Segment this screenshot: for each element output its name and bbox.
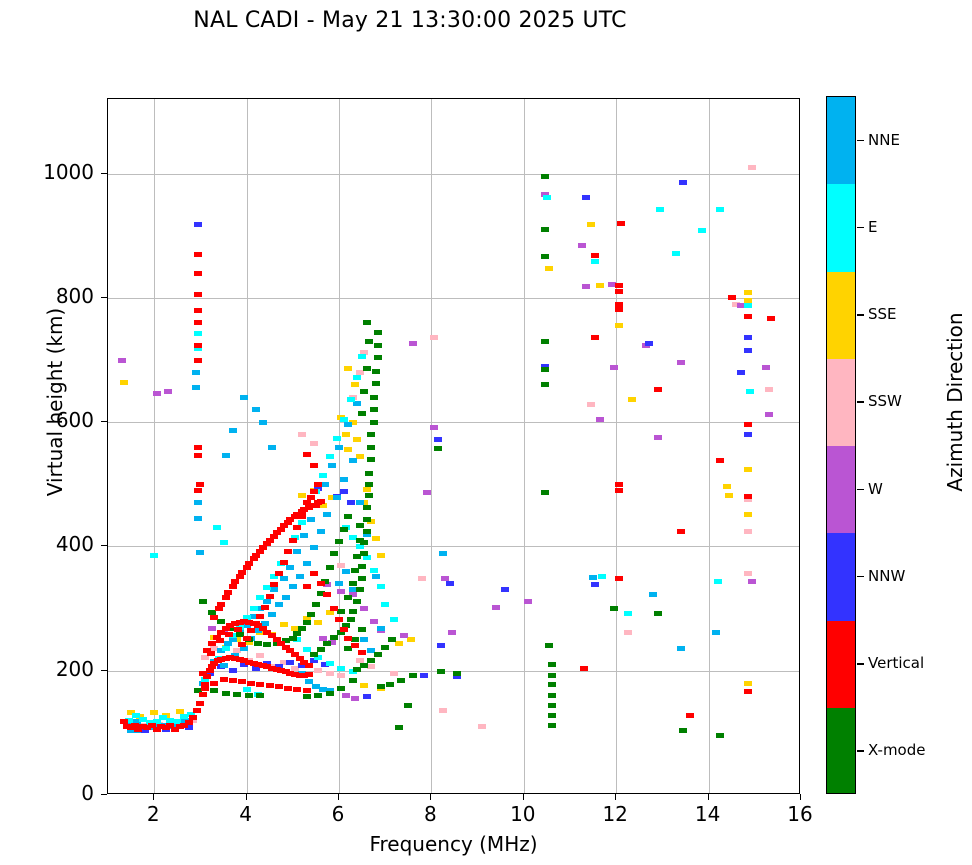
ionogram-echo-point xyxy=(349,581,357,586)
ionogram-echo-point xyxy=(335,445,343,450)
ionogram-echo-point xyxy=(744,512,752,517)
ionogram-echo-point xyxy=(615,289,623,294)
ionogram-echo-point xyxy=(323,592,331,597)
ionogram-echo-point xyxy=(716,207,724,212)
ionogram-echo-point xyxy=(210,681,218,686)
ionogram-echo-point xyxy=(330,635,338,640)
ionogram-echo-point xyxy=(543,195,551,200)
ionogram-echo-point xyxy=(194,445,202,450)
ionogram-echo-point xyxy=(194,292,202,297)
ionogram-echo-point xyxy=(150,553,158,558)
colorbar-tick xyxy=(857,401,864,402)
ionogram-echo-point xyxy=(548,703,556,708)
ionogram-echo-point xyxy=(716,733,724,738)
ionogram-echo-point xyxy=(351,643,359,648)
ionogram-echo-point xyxy=(270,587,278,592)
ionogram-echo-point xyxy=(744,494,752,499)
x-tick-label: 12 xyxy=(585,802,645,826)
ionogram-echo-point xyxy=(194,271,202,276)
ionogram-echo-point xyxy=(582,195,590,200)
y-tick xyxy=(101,545,107,546)
ionogram-echo-point xyxy=(591,253,599,258)
ionogram-echo-point xyxy=(370,420,378,425)
ionogram-echo-point xyxy=(333,495,341,500)
ionogram-echo-point xyxy=(233,692,241,697)
colorbar-tick xyxy=(857,663,864,664)
ionogram-echo-point xyxy=(289,584,297,589)
ionogram-echo-point xyxy=(263,642,271,647)
colorbar-label-w: W xyxy=(868,480,883,498)
ionogram-echo-point xyxy=(238,679,246,684)
ionogram-echo-point xyxy=(268,445,276,450)
colorbar-segment-vertical xyxy=(827,621,855,708)
colorbar-label-sse: SSE xyxy=(868,305,897,323)
ionogram-echo-point xyxy=(268,612,276,617)
ionogram-echo-point xyxy=(164,389,172,394)
colorbar xyxy=(826,96,856,794)
ionogram-echo-point xyxy=(372,381,380,386)
ionogram-echo-point xyxy=(548,682,556,687)
x-tick-label: 16 xyxy=(770,802,830,826)
ionogram-echo-point xyxy=(256,682,264,687)
ionogram-echo-point xyxy=(337,609,345,614)
ionogram-echo-point xyxy=(587,402,595,407)
ionogram-echo-point xyxy=(360,551,368,556)
ionogram-echo-point xyxy=(545,643,553,648)
ionogram-echo-point xyxy=(360,389,368,394)
ionogram-echo-point xyxy=(363,505,371,510)
ionogram-echo-point xyxy=(150,710,158,715)
ionogram-echo-point xyxy=(370,407,378,412)
ionogram-echo-point xyxy=(400,633,408,638)
x-tick xyxy=(800,794,801,800)
ionogram-echo-point xyxy=(541,339,549,344)
ionogram-echo-point xyxy=(370,619,378,624)
ionogram-echo-point xyxy=(314,482,322,487)
ionogram-echo-point xyxy=(207,651,215,656)
y-tick xyxy=(101,421,107,422)
ionogram-echo-point xyxy=(303,452,311,457)
ionogram-echo-point xyxy=(340,627,348,632)
ionogram-echo-point xyxy=(303,561,311,566)
ionogram-echo-point xyxy=(762,365,770,370)
ionogram-echo-point xyxy=(617,221,625,226)
ionogram-echo-point xyxy=(193,708,201,713)
ionogram-echo-point xyxy=(548,673,556,678)
ionogram-echo-point xyxy=(225,632,233,637)
ionogram-echo-point xyxy=(222,453,230,458)
ionogram-echo-point xyxy=(765,387,773,392)
y-axis-title: Virtual height (km) xyxy=(43,252,67,552)
ionogram-echo-point xyxy=(353,401,361,406)
ionogram-echo-point xyxy=(548,693,556,698)
colorbar-segment-w xyxy=(827,446,855,533)
ionogram-echo-point xyxy=(280,622,288,627)
ionogram-echo-point xyxy=(744,467,752,472)
ionogram-echo-point xyxy=(340,489,348,494)
ionogram-echo-point xyxy=(194,488,202,493)
ionogram-echo-point xyxy=(199,671,207,676)
ionogram-echo-point xyxy=(266,683,274,688)
ionogram-echo-point xyxy=(358,627,366,632)
ionogram-echo-point xyxy=(677,529,685,534)
ionogram-echo-point xyxy=(409,341,417,346)
ionogram-echo-point xyxy=(210,688,218,693)
ionogram-echo-point xyxy=(275,602,283,607)
ionogram-echo-point xyxy=(624,630,632,635)
ionogram-echo-point xyxy=(314,693,322,698)
ionogram-echo-point xyxy=(256,614,264,619)
ionogram-echo-point xyxy=(374,355,382,360)
ionogram-echo-point xyxy=(744,689,752,694)
colorbar-segment-sse xyxy=(827,272,855,359)
ionogram-echo-point xyxy=(234,627,242,632)
ionogram-echo-point xyxy=(363,529,371,534)
ionogram-echo-point xyxy=(765,412,773,417)
ionogram-echo-point xyxy=(679,180,687,185)
y-tick xyxy=(101,670,107,671)
y-tick-label: 0 xyxy=(10,781,94,805)
ionogram-echo-point xyxy=(434,446,442,451)
ionogram-echo-point xyxy=(377,584,385,589)
ionogram-echo-point xyxy=(326,565,334,570)
ionogram-echo-point xyxy=(744,303,752,308)
ionogram-echo-point xyxy=(610,606,618,611)
ionogram-echo-point xyxy=(716,458,724,463)
ionogram-echo-point xyxy=(243,636,251,641)
ionogram-echo-point xyxy=(628,397,636,402)
ionogram-echo-point xyxy=(349,458,357,463)
colorbar-tick xyxy=(857,489,864,490)
ionogram-echo-point xyxy=(615,488,623,493)
ionogram-echo-point xyxy=(243,687,251,692)
ionogram-echo-point xyxy=(723,484,731,489)
ionogram-echo-point xyxy=(303,500,311,505)
ionogram-echo-point xyxy=(358,650,366,655)
ionogram-echo-point xyxy=(201,686,209,691)
ionogram-echo-point xyxy=(737,370,745,375)
ionogram-echo-point xyxy=(367,658,375,663)
ionogram-echo-point xyxy=(284,686,292,691)
ionogram-echo-point xyxy=(654,387,662,392)
ionogram-echo-point xyxy=(266,594,274,599)
ionogram-page: NAL CADI - May 21 13:30:00 2025 UTC 2468… xyxy=(0,0,972,865)
colorbar-tick xyxy=(857,750,864,751)
ionogram-echo-point xyxy=(344,514,352,519)
ionogram-echo-point xyxy=(289,636,297,641)
ionogram-echo-point xyxy=(372,574,380,579)
y-tick xyxy=(101,794,107,795)
ionogram-echo-point xyxy=(328,463,336,468)
ionogram-echo-point xyxy=(310,545,318,550)
ionogram-echo-point xyxy=(303,584,311,589)
ionogram-echo-point xyxy=(349,609,357,614)
ionogram-echo-point xyxy=(587,222,595,227)
ionogram-echo-point xyxy=(439,708,447,713)
ionogram-echo-point xyxy=(208,641,216,646)
ionogram-echo-point xyxy=(337,686,345,691)
ionogram-echo-point xyxy=(430,425,438,430)
ionogram-echo-point xyxy=(229,678,237,683)
ionogram-echo-point xyxy=(340,417,348,422)
ionogram-echo-point xyxy=(261,605,269,610)
ionogram-echo-point xyxy=(367,445,375,450)
ionogram-echo-point xyxy=(189,715,197,720)
ionogram-echo-point xyxy=(254,641,262,646)
ionogram-echo-point xyxy=(286,565,294,570)
ionogram-echo-point xyxy=(358,354,366,359)
ionogram-echo-point xyxy=(342,693,350,698)
ionogram-echo-point xyxy=(222,595,230,600)
ionogram-echo-point xyxy=(744,335,752,340)
x-tick xyxy=(430,794,431,800)
ionogram-echo-point xyxy=(270,582,278,587)
ionogram-echo-point xyxy=(390,671,398,676)
ionogram-echo-point xyxy=(437,643,445,648)
ionogram-echo-point xyxy=(208,626,216,631)
ionogram-echo-point xyxy=(381,645,389,650)
ionogram-echo-point xyxy=(388,637,396,642)
ionogram-echo-point xyxy=(744,529,752,534)
colorbar-label-nne: NNE xyxy=(868,131,900,149)
ionogram-echo-point xyxy=(374,343,382,348)
ionogram-echo-point xyxy=(289,538,297,543)
ionogram-echo-point xyxy=(220,677,228,682)
ionogram-echo-point xyxy=(199,692,207,697)
ionogram-echo-point xyxy=(303,620,311,625)
ionogram-echo-point xyxy=(363,487,371,492)
ionogram-echo-point xyxy=(220,540,228,545)
colorbar-tick xyxy=(857,576,864,577)
colorbar-label-x-mode: X-mode xyxy=(868,741,925,759)
x-tick xyxy=(246,794,247,800)
ionogram-echo-point xyxy=(744,681,752,686)
ionogram-echo-point xyxy=(321,482,329,487)
ionogram-echo-point xyxy=(330,551,338,556)
colorbar-label-ssw: SSW xyxy=(868,392,902,410)
ionogram-echo-point xyxy=(303,688,311,693)
ionogram-echo-point xyxy=(284,549,292,554)
ionogram-echo-point xyxy=(686,713,694,718)
ionogram-echo-point xyxy=(326,454,334,459)
ionogram-echo-point xyxy=(367,432,375,437)
ionogram-echo-point xyxy=(252,407,260,412)
ionogram-echo-point xyxy=(303,694,311,699)
colorbar-title: Azimuth Direction xyxy=(943,252,967,552)
ionogram-echo-point xyxy=(344,595,352,600)
ionogram-echo-point xyxy=(365,493,373,498)
ionogram-echo-point xyxy=(744,571,752,576)
ionogram-echo-point xyxy=(305,663,313,668)
ionogram-echo-point xyxy=(524,599,532,604)
ionogram-echo-point xyxy=(220,663,228,668)
ionogram-echo-point xyxy=(344,447,352,452)
ionogram-echo-point xyxy=(194,222,202,227)
ionogram-echo-point xyxy=(356,538,364,543)
ionogram-echo-point xyxy=(353,599,361,604)
ionogram-echo-point xyxy=(347,617,355,622)
ionogram-echo-point xyxy=(229,428,237,433)
ionogram-echo-point xyxy=(310,571,318,576)
ionogram-echo-point xyxy=(363,366,371,371)
y-tick xyxy=(101,297,107,298)
ionogram-echo-point xyxy=(210,615,218,620)
ionogram-echo-point xyxy=(337,589,345,594)
ionogram-echo-point xyxy=(356,523,364,528)
ionogram-echo-point xyxy=(677,646,685,651)
colorbar-label-nnw: NNW xyxy=(868,567,905,585)
x-tick-label: 8 xyxy=(400,802,460,826)
ionogram-echo-point xyxy=(367,457,375,462)
ionogram-echo-point xyxy=(337,563,345,568)
ionogram-echo-point xyxy=(256,653,264,658)
ionogram-echo-point xyxy=(229,668,237,673)
ionogram-echo-point xyxy=(448,630,456,635)
ionogram-echo-point xyxy=(310,441,318,446)
ionogram-echo-point xyxy=(250,606,258,611)
ionogram-echo-point xyxy=(679,728,687,733)
ionogram-echo-point xyxy=(280,560,288,565)
ionogram-echo-point xyxy=(748,579,756,584)
ionogram-echo-point xyxy=(326,671,334,676)
ionogram-echo-point xyxy=(548,713,556,718)
ionogram-echo-point xyxy=(591,259,599,264)
ionogram-echo-point xyxy=(337,673,345,678)
ionogram-echo-point xyxy=(185,720,193,725)
ionogram-echo-point xyxy=(598,574,606,579)
ionogram-echo-point xyxy=(252,553,260,558)
ionogram-echo-point xyxy=(744,290,752,295)
ionogram-echo-point xyxy=(194,308,202,313)
ionogram-echo-point xyxy=(541,490,549,495)
ionogram-echo-point xyxy=(120,380,128,385)
colorbar-segment-nnw xyxy=(827,533,855,620)
ionogram-echo-point xyxy=(360,663,368,668)
ionogram-echo-point xyxy=(541,254,549,259)
ionogram-echo-point xyxy=(767,316,775,321)
ionogram-echo-point xyxy=(353,437,361,442)
ionogram-echo-point xyxy=(280,523,288,528)
page-title: NAL CADI - May 21 13:30:00 2025 UTC xyxy=(0,8,820,33)
ionogram-echo-point xyxy=(314,500,322,505)
ionogram-echo-point xyxy=(314,620,322,625)
ionogram-echo-point xyxy=(194,331,202,336)
ionogram-echo-point xyxy=(238,570,246,575)
ionogram-echo-point xyxy=(194,516,202,521)
ionogram-echo-point xyxy=(353,554,361,559)
colorbar-segment-x-mode xyxy=(827,708,855,794)
ionogram-echo-point xyxy=(194,358,202,363)
ionogram-echo-point xyxy=(615,307,623,312)
ionogram-echo-point xyxy=(725,493,733,498)
ionogram-echo-point xyxy=(192,385,200,390)
ionogram-echo-point xyxy=(358,576,366,581)
ionogram-echo-point xyxy=(275,571,283,576)
ionogram-echo-point xyxy=(340,527,348,532)
ionogram-echo-point xyxy=(351,382,359,387)
ionogram-echo-point xyxy=(541,227,549,232)
colorbar-tick xyxy=(857,140,864,141)
ionogram-echo-point xyxy=(216,638,224,643)
ionogram-echo-point xyxy=(245,561,253,566)
ionogram-echo-point xyxy=(548,723,556,728)
x-tick xyxy=(523,794,524,800)
ionogram-echo-point xyxy=(386,682,394,687)
ionogram-echo-point xyxy=(541,174,549,179)
ionogram-echo-point xyxy=(335,539,343,544)
ionogram-echo-point xyxy=(381,602,389,607)
ionogram-echo-point xyxy=(358,564,366,569)
ionogram-echo-point xyxy=(217,619,225,624)
ionogram-echo-point xyxy=(374,652,382,657)
ionogram-echo-point xyxy=(314,668,322,673)
ionogram-echo-point xyxy=(259,420,267,425)
ionogram-echo-point xyxy=(377,684,385,689)
ionogram-echo-point xyxy=(312,602,320,607)
x-tick xyxy=(338,794,339,800)
ionogram-echo-point xyxy=(259,545,267,550)
ionogram-echo-point xyxy=(589,575,597,580)
ionogram-echo-point xyxy=(712,630,720,635)
ionogram-echo-point xyxy=(649,592,657,597)
ionogram-echo-point xyxy=(323,512,331,517)
ionogram-echo-point xyxy=(217,602,225,607)
ionogram-echo-point xyxy=(418,576,426,581)
ionogram-echo-point xyxy=(409,673,417,678)
ionogram-echo-point xyxy=(397,678,405,683)
ionogram-echo-point xyxy=(282,595,290,600)
ionogram-echo-point xyxy=(580,666,588,671)
ionogram-echo-point xyxy=(293,687,301,692)
ionogram-echo-point xyxy=(326,691,334,696)
ionogram-echo-point xyxy=(434,437,442,442)
ionogram-echo-point xyxy=(624,611,632,616)
ionogram-echo-point xyxy=(317,647,325,652)
ionogram-echo-point xyxy=(192,370,200,375)
ionogram-echo-point xyxy=(293,525,301,530)
ionogram-echo-point xyxy=(545,266,553,271)
ionogram-echo-point xyxy=(363,694,371,699)
ionogram-echo-point xyxy=(610,365,618,370)
ionogram-echo-point xyxy=(437,669,445,674)
x-tick-label: 6 xyxy=(308,802,368,826)
ionogram-echo-point xyxy=(615,283,623,288)
ionogram-echo-point xyxy=(118,358,126,363)
ionogram-echo-point xyxy=(351,568,359,573)
ionogram-echo-point xyxy=(356,587,364,592)
ionogram-echo-point xyxy=(333,436,341,441)
ionogram-echo-point xyxy=(492,605,500,610)
ionogram-echo-point xyxy=(748,165,756,170)
colorbar-segment-e xyxy=(827,184,855,271)
ionogram-echo-point xyxy=(245,693,253,698)
ionogram-echo-point xyxy=(280,576,288,581)
ionogram-echo-point xyxy=(310,652,318,657)
ionogram-echo-point xyxy=(351,637,359,642)
ionogram-echo-point xyxy=(370,568,378,573)
ionogram-echo-point xyxy=(744,314,752,319)
ionogram-echo-point xyxy=(347,397,355,402)
ionogram-echo-point xyxy=(347,500,355,505)
ionogram-echo-point xyxy=(374,330,382,335)
ionogram-echo-point xyxy=(478,724,486,729)
ionogram-echo-point xyxy=(310,489,318,494)
ionogram-echo-point xyxy=(591,335,599,340)
ionogram-echo-point xyxy=(256,595,264,600)
ionogram-echo-point xyxy=(344,422,352,427)
ionogram-echo-point xyxy=(365,471,373,476)
x-tick-label: 4 xyxy=(216,802,276,826)
